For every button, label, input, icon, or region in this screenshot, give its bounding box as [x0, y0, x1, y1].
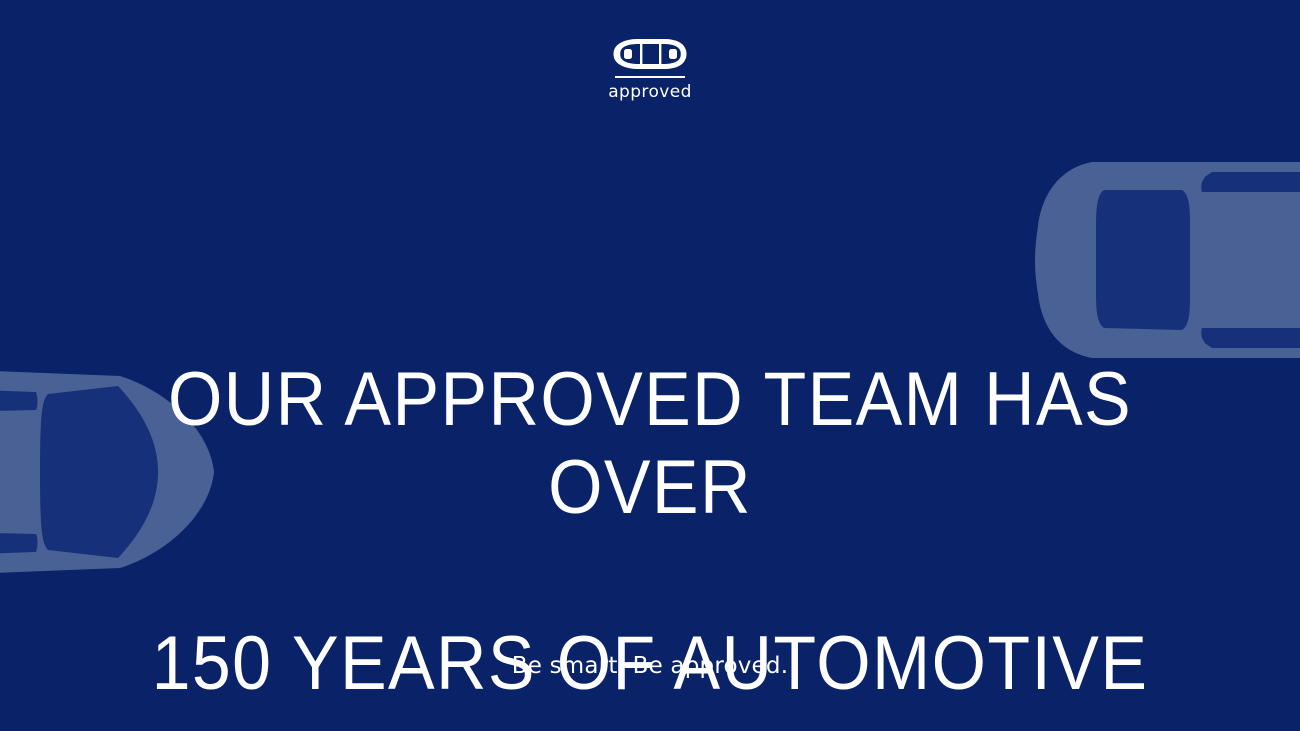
headline-line-1: OUR APPROVED TEAM HAS OVER — [126, 356, 1175, 532]
logo-wordmark: approved — [608, 84, 692, 101]
brand-logo: approved — [0, 37, 1300, 101]
tagline: Be smart. Be approved. — [0, 653, 1300, 679]
car-top-view-icon — [612, 37, 688, 71]
marketing-slide: approved OUR APPROVED TEAM HAS OVER 150 … — [0, 0, 1300, 731]
logo-divider — [615, 76, 685, 78]
